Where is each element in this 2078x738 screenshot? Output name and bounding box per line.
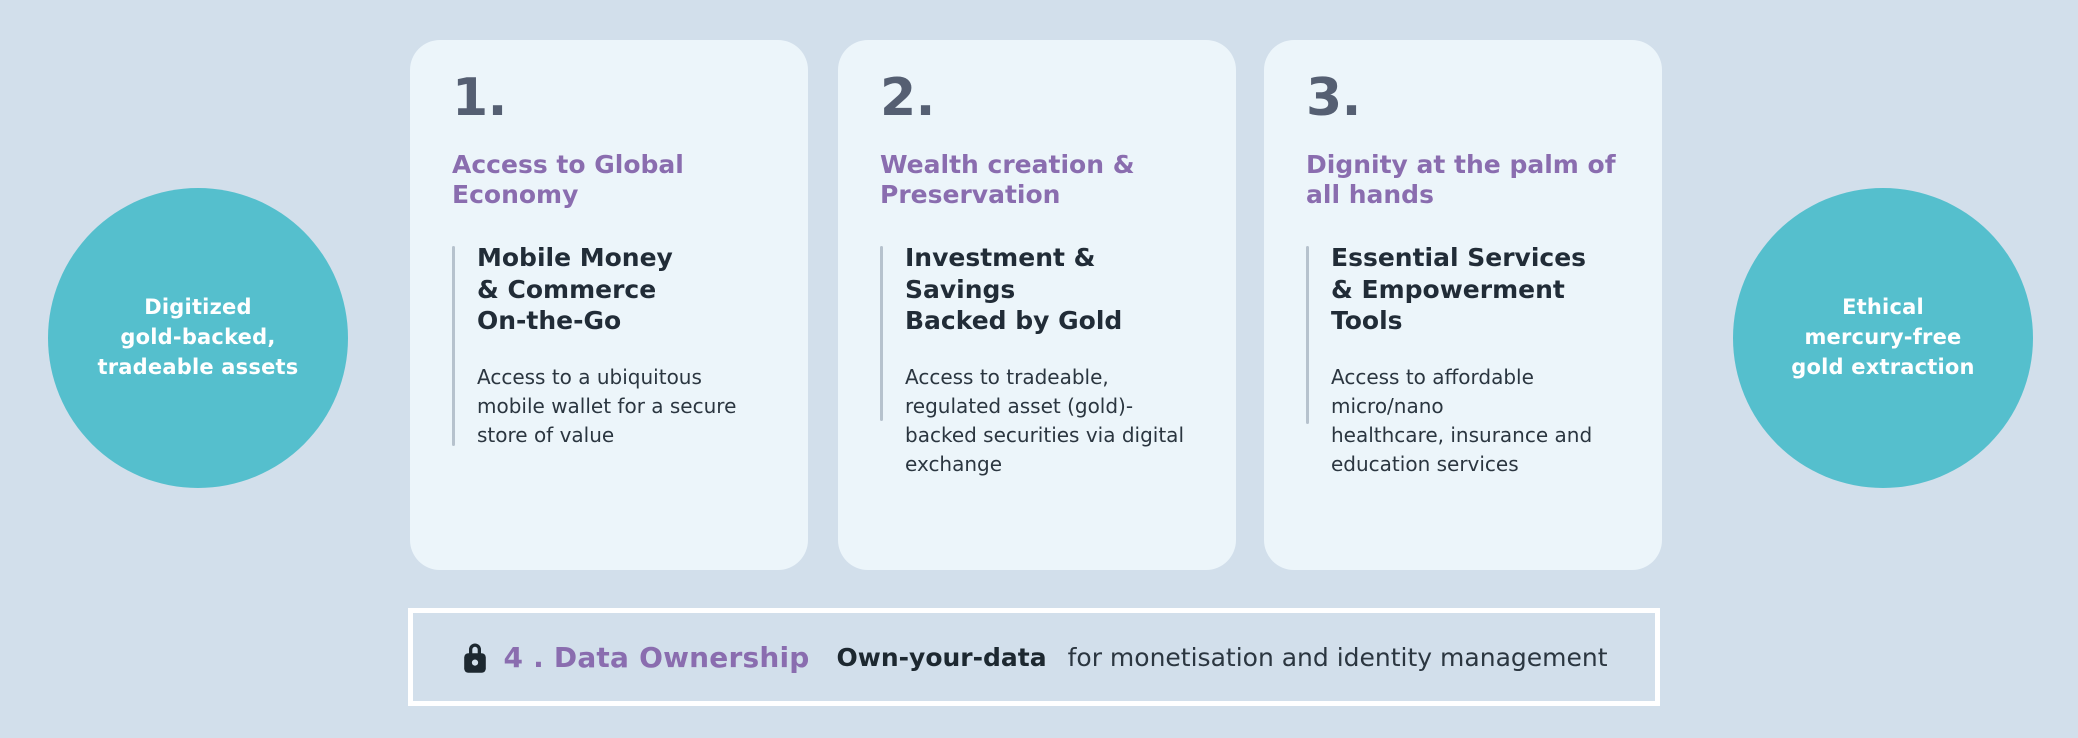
vertical-rule-divider [880,246,883,421]
banner-content: 4 . Data Ownership Own-your-data for mon… [460,640,1607,674]
card-subtitle: Essential Services & Empowerment Tools [1331,242,1620,337]
card-number: 2. [880,72,1194,124]
card-subtitle: Investment & Savings Backed by Gold [905,242,1194,337]
card-number: 3. [1306,72,1620,124]
card-description: Access to tradeable, regulated asset (go… [905,363,1194,479]
vertical-rule-divider [452,246,455,446]
circle-right-text: Ethical mercury-free gold extraction [1773,293,1992,382]
card-title: Wealth creation & Preservation [880,150,1194,210]
card-body: Mobile Money & Commerce On-the-Go Access… [452,242,766,450]
card-body: Essential Services & Empowerment Tools A… [1306,242,1620,479]
banner-rest-text: for monetisation and identity management [1068,643,1608,672]
card-wealth-creation-preservation: 2. Wealth creation & Preservation Invest… [838,40,1236,570]
circle-ethical-extraction: Ethical mercury-free gold extraction [1733,188,2033,488]
card-subtitle: Mobile Money & Commerce On-the-Go [477,242,766,337]
infographic-canvas: Digitized gold-backed, tradeable assets … [0,0,2078,738]
card-description: Access to affordable micro/nano healthca… [1331,363,1620,479]
lock-icon [460,640,490,674]
card-number: 1. [452,72,766,124]
circle-digitized-assets: Digitized gold-backed, tradeable assets [48,188,348,488]
banner-label: 4 . Data Ownership [503,641,809,674]
card-body: Investment & Savings Backed by Gold Acce… [880,242,1194,479]
card-title: Dignity at the palm of all hands [1306,150,1620,210]
card-description: Access to a ubiquitous mobile wallet for… [477,363,766,450]
vertical-rule-divider [1306,246,1309,424]
banner-strong-text: Own-your-data [837,643,1047,672]
circle-left-text: Digitized gold-backed, tradeable assets [80,293,317,382]
data-ownership-banner: 4 . Data Ownership Own-your-data for mon… [408,608,1660,706]
card-title: Access to Global Economy [452,150,766,210]
card-dignity-at-the-palm-of-all-hands: 3. Dignity at the palm of all hands Esse… [1264,40,1662,570]
card-access-to-global-economy: 1. Access to Global Economy Mobile Money… [410,40,808,570]
